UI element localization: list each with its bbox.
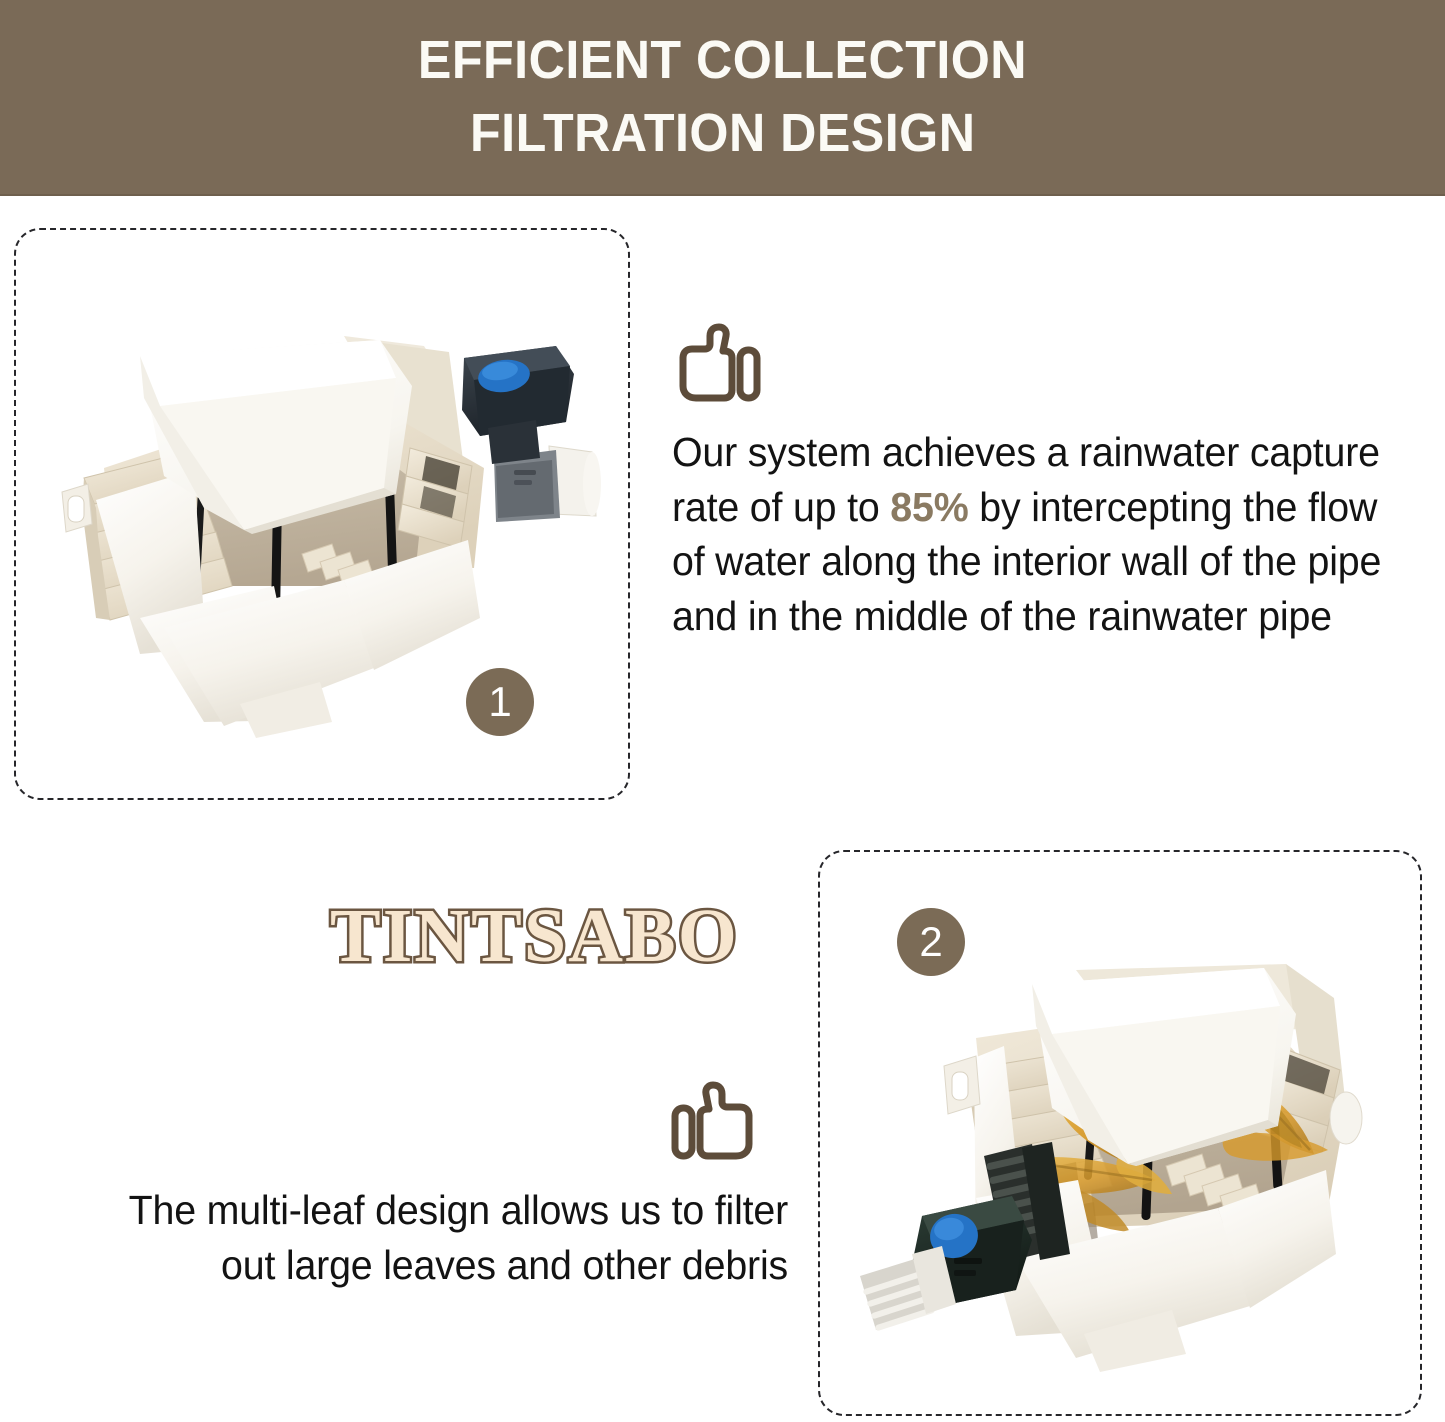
header-banner: EFFICIENT COLLECTION FILTRATION DESIGN [0, 0, 1445, 196]
thumbs-up-icon [40, 1080, 788, 1167]
step-number-badge-2: 2 [897, 908, 965, 976]
feature-text-2: The multi-leaf design allows us to filte… [70, 1183, 788, 1292]
feature-block-1: Our system achieves a rainwater capture … [672, 322, 1420, 643]
header-title-line-2: FILTRATION DESIGN [470, 97, 975, 170]
feature-text-1: Our system achieves a rainwater capture … [672, 425, 1390, 643]
feature-1-highlight: 85% [890, 484, 968, 530]
feature-block-2: The multi-leaf design allows us to filte… [40, 1080, 788, 1292]
header-title-line-1: EFFICIENT COLLECTION [418, 24, 1027, 97]
step-number-badge-1: 1 [466, 668, 534, 736]
product-photo-2 [826, 958, 1420, 1388]
thumbs-up-icon [672, 322, 1420, 409]
brand-logo: TINTSABO [330, 893, 739, 980]
